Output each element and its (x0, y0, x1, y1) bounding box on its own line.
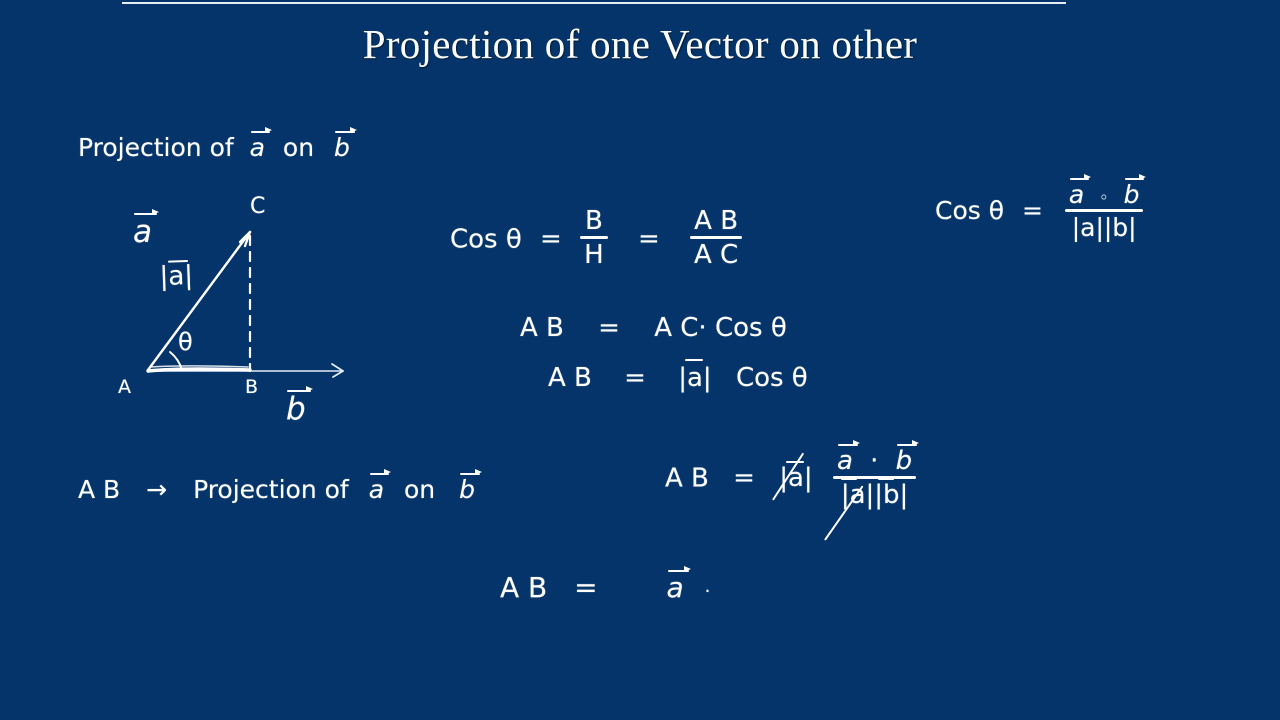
vector-a-glyph: a (369, 475, 384, 502)
magnitude-a-arrow (685, 359, 703, 361)
ab-mag-equals: = (624, 363, 646, 393)
diagram-label-A: A (118, 378, 131, 397)
diagram-label-vector-b: b (286, 392, 306, 425)
ab-mag-lhs: A B (548, 363, 592, 393)
ab-mag-magnitude: |a| (678, 363, 720, 393)
fraction-denominator: H (580, 241, 608, 268)
denominator-text: |a||b| (841, 480, 908, 510)
cos-ratio-fraction-abac: A B A C (690, 208, 742, 268)
cos-ratio-lhs: Cos θ (450, 224, 522, 254)
magnitude-a-text: |a| (159, 261, 193, 292)
projection-def-lhs: A B (78, 475, 120, 504)
fraction-bar (580, 236, 608, 239)
ab-ac-equals: = (598, 313, 620, 343)
fraction-bar (1065, 209, 1144, 212)
projection-def-arrow: → (146, 475, 167, 504)
fraction-numerator: A B (690, 208, 742, 235)
diagram-label-B: B (245, 378, 258, 397)
denominator-arrow-a (841, 478, 857, 480)
fraction-numerator: B (580, 208, 608, 235)
equation-ab-expanded: A B = |a| a · b |a||b| (665, 448, 916, 510)
presentation-slide: Projection of one Vector on other Projec… (0, 0, 1280, 720)
vector-a-glyph: a (837, 446, 853, 474)
diagram-label-C: C (250, 196, 265, 218)
final-lhs: A B (500, 571, 547, 604)
cos-ratio-fraction-bh: B H (580, 208, 608, 268)
final-equals: = (574, 571, 597, 604)
ab-expanded-equals: = (733, 463, 755, 493)
vector-b-glyph: b (334, 133, 350, 160)
cos-ratio-equals-2: = (638, 224, 660, 254)
fraction-bar (690, 236, 742, 239)
projection-def-pre: Projection of (193, 475, 349, 504)
projection-def-mid: on (404, 475, 435, 504)
note-heading-pre: Projection of (78, 133, 234, 162)
vector-a-glyph: a (667, 572, 684, 602)
magnitude-a-text: |a| (678, 363, 711, 393)
fraction-denominator: A C (690, 241, 742, 268)
vector-a-glyph: a (250, 133, 265, 160)
vector-b-glyph: b (286, 392, 306, 425)
fraction-denominator: |a||b| (1065, 214, 1144, 240)
ab-ac-rhs: A C· Cos θ (654, 313, 787, 343)
equation-final-incomplete: A B = a · (500, 572, 710, 602)
dot-operator: · (870, 446, 878, 476)
cos-dot-lhs: Cos θ (935, 196, 1004, 225)
diagram-label-magnitude-a: |a| (159, 263, 193, 290)
fraction-denominator: |a||b| (833, 481, 916, 508)
dot-operator: ◦ (1099, 188, 1108, 207)
fraction-numerator: a · b (833, 446, 916, 475)
fraction-numerator: a ◦ b (1065, 180, 1144, 208)
denominator-arrow-b (878, 478, 894, 480)
equation-projection-definition: A B → Projection of a on b (78, 475, 475, 502)
diagram-label-vector-a: a (133, 215, 152, 248)
diagram-label-theta: θ (178, 330, 193, 354)
cos-ratio-equals-1: = (540, 224, 562, 254)
equation-cos-dot-product: Cos θ = a ◦ b |a||b| (935, 182, 1143, 242)
final-trailing-dot: · (705, 581, 711, 602)
note-heading-mid: on (283, 133, 314, 162)
ab-expanded-lhs: A B (665, 463, 709, 493)
equation-ab-equals-mag-a-cos: A B = |a| Cos θ (548, 365, 808, 391)
note-heading: Projection of a on b (78, 133, 350, 160)
vector-a-glyph: a (133, 215, 152, 248)
vector-b-glyph: b (459, 475, 475, 502)
ab-expanded-fraction: a · b |a||b| (833, 446, 916, 508)
ab-expanded-magnitude-a-cancelled: |a| (779, 465, 812, 491)
handwriting-layer: Projection of a on b C A B θ (0, 0, 1280, 720)
cos-dot-fraction: a ◦ b |a||b| (1065, 180, 1144, 240)
vector-b-glyph: b (1124, 180, 1140, 207)
equation-ab-equals-ac-cos: A B = A C· Cos θ (520, 315, 787, 341)
ab-mag-rhs: Cos θ (736, 363, 808, 393)
equation-cos-ratio: Cos θ = B H = A B A C (450, 210, 742, 270)
vector-a-glyph: a (1069, 180, 1084, 207)
cos-dot-equals: = (1022, 196, 1043, 225)
ab-ac-lhs: A B (520, 313, 564, 343)
vector-b-glyph: b (896, 446, 913, 474)
